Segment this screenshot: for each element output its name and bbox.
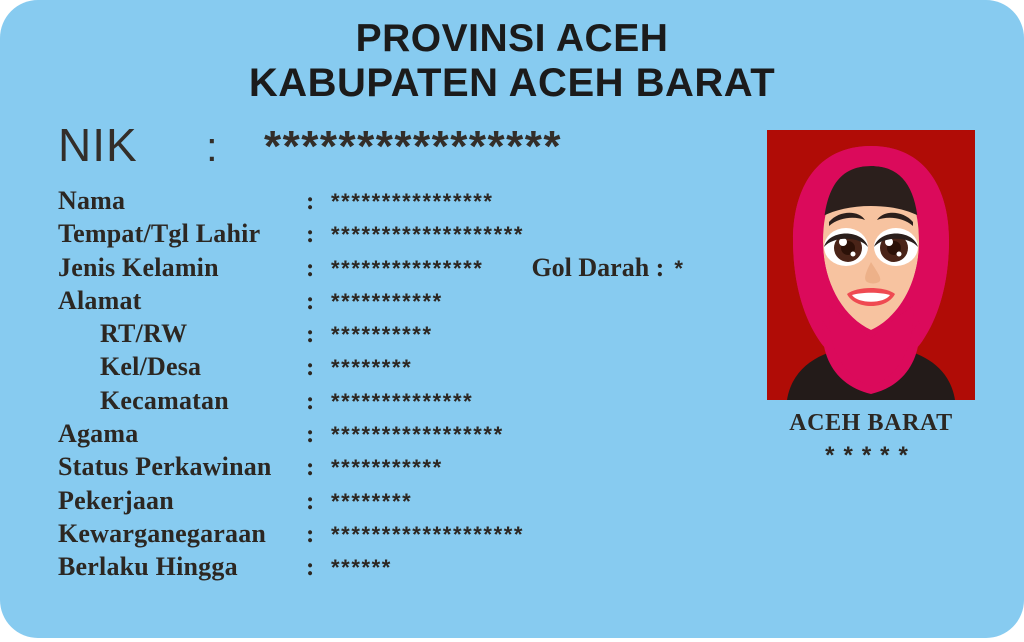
field-value: *********** [331,455,443,481]
field-value: *********** [331,289,443,315]
field-label: Kel/Desa [58,352,306,382]
field-row: Kewarganegaraan:******************* [58,519,758,552]
field-colon: : [306,255,331,283]
field-row: Status Perkawinan:*********** [58,452,758,485]
field-label: Nama [58,186,306,216]
field-label: Agama [58,419,306,449]
field-value: ******** [331,489,412,515]
nik-row: NIK : **************** [58,118,562,170]
nik-colon: : [206,123,264,171]
field-label: RT/RW [58,319,306,349]
field-label: Berlaku Hingga [58,552,306,582]
photo-frame [767,130,975,400]
field-colon: : [306,554,331,582]
field-colon: : [306,488,331,516]
field-row: Kel/Desa:******** [58,352,758,385]
field-list: Nama:****************Tempat/Tgl Lahir:**… [58,186,758,586]
field-colon: : [306,188,331,216]
field-colon: : [306,421,331,449]
header-province: PROVINSI ACEH [0,17,1024,61]
field-colon: : [306,221,331,249]
field-value: ******** [331,355,412,381]
field-label: Alamat [58,286,306,316]
field-value: ***************** [331,422,504,448]
field-row: Agama:***************** [58,419,758,452]
nik-label: NIK [58,118,206,172]
field-colon: : [306,288,331,316]
field-value: ******************* [331,222,524,248]
field-value: ******************* [331,522,524,548]
field-colon: : [306,321,331,349]
field-value: ********** [331,322,433,348]
field-colon: : [306,354,331,382]
field-label: Jenis Kelamin [58,253,306,283]
field-value: ************** [331,389,473,415]
header-regency: KABUPATEN ACEH BARAT [0,61,1024,106]
card-header: PROVINSI ACEH KABUPATEN ACEH BARAT [0,17,1024,105]
blood-type-value: * [674,256,683,282]
field-label: Kewarganegaraan [58,519,306,549]
blood-type-label: Gol Darah : [531,253,664,283]
photo-signature-stars: ***** [767,442,975,470]
field-colon: : [306,521,331,549]
field-colon: : [306,454,331,482]
field-row: Jenis Kelamin:***************Gol Darah :… [58,253,758,286]
field-label: Tempat/Tgl Lahir [58,219,306,249]
field-row: Berlaku Hingga:****** [58,552,758,585]
field-row: Pekerjaan:******** [58,486,758,519]
photo-caption: ACEH BARAT [767,410,975,437]
field-row: Tempat/Tgl Lahir:******************* [58,219,758,252]
field-row: Kecamatan:************** [58,386,758,419]
ktp-card: PROVINSI ACEH KABUPATEN ACEH BARAT NIK :… [0,0,1024,638]
nik-value: **************** [264,122,562,172]
field-label: Status Perkawinan [58,452,306,482]
field-row: RT/RW:********** [58,319,758,352]
field-value: **************** [331,189,494,215]
field-label: Pekerjaan [58,486,306,516]
field-value: *************** [331,256,483,282]
field-row: Nama:**************** [58,186,758,219]
field-label: Kecamatan [58,386,306,416]
field-value: ****** [331,555,392,581]
field-row: Alamat:*********** [58,286,758,319]
avatar-woman-hijab-icon [767,130,975,400]
field-colon: : [306,388,331,416]
